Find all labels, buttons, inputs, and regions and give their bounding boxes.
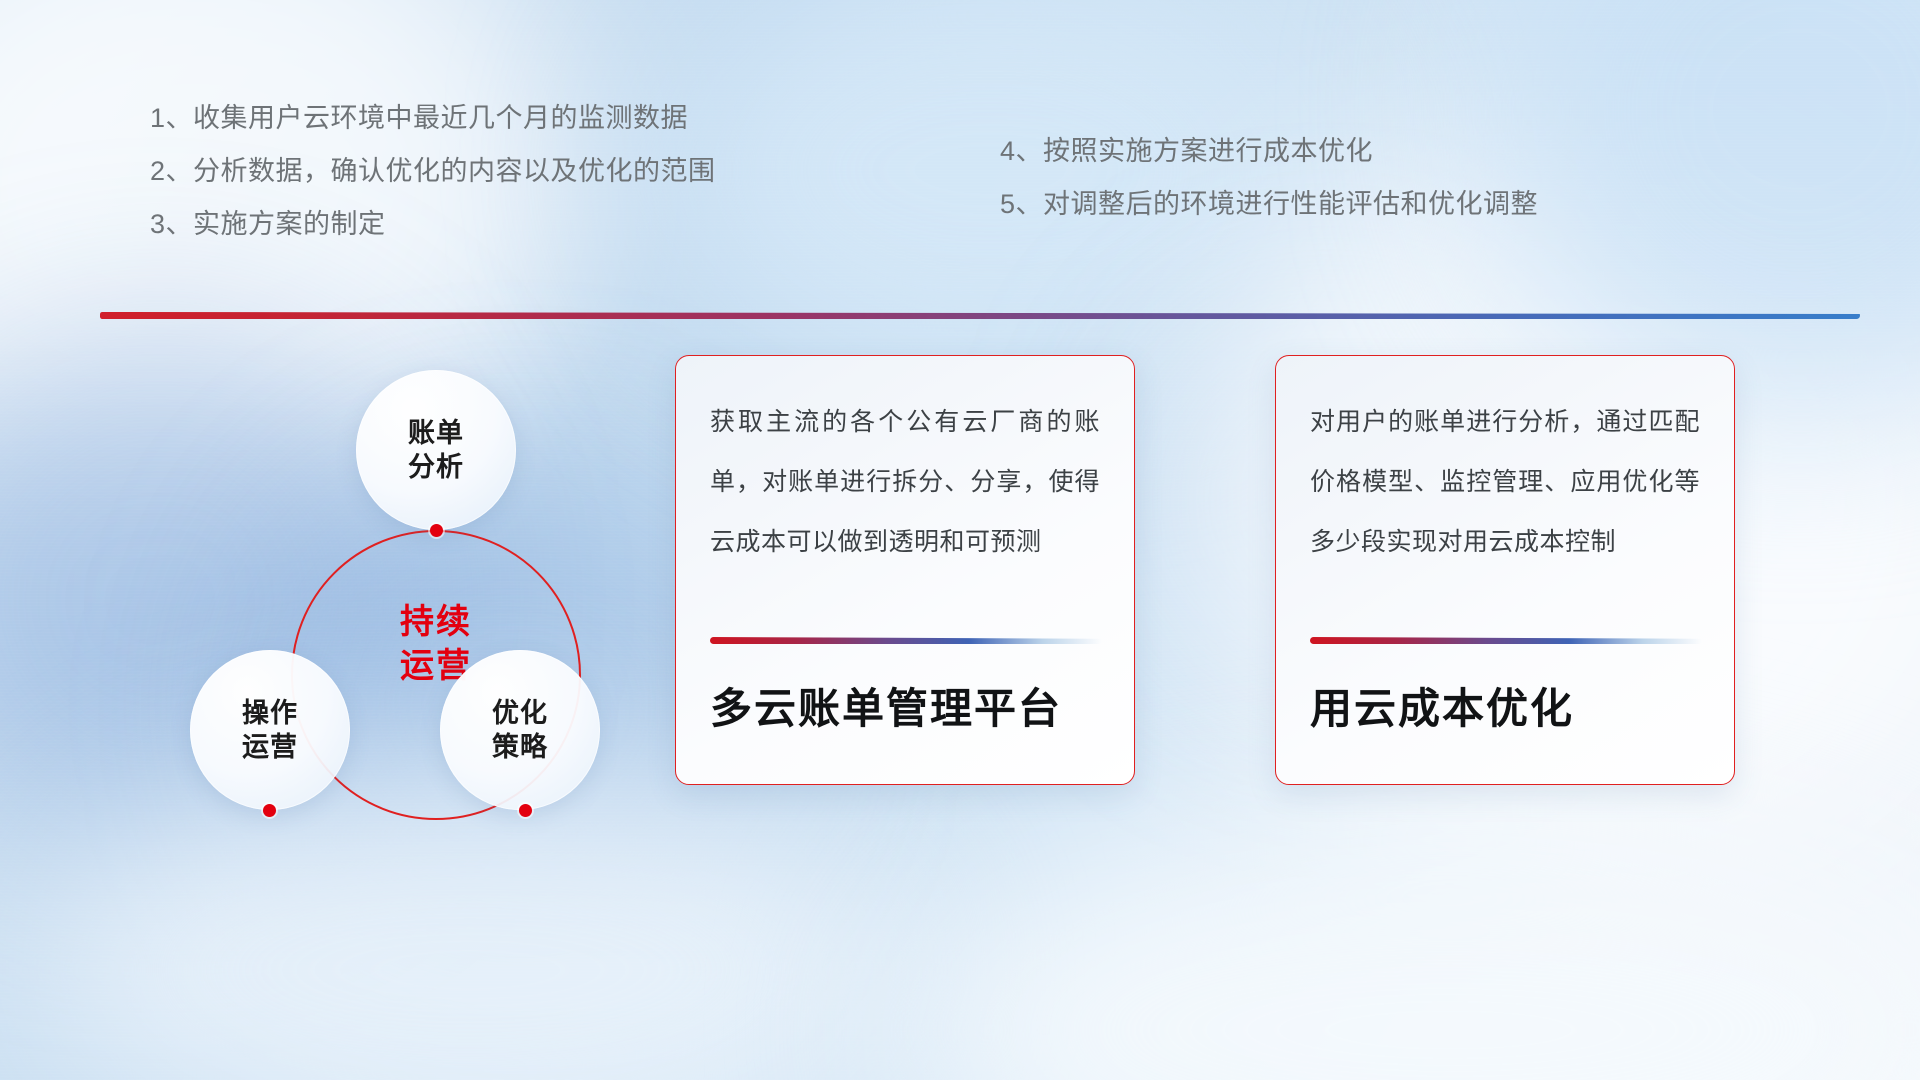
diagram-node-label: 优化 策略	[492, 696, 548, 764]
cycle-diagram: 持续 运营 账单 分析 操作 运营 优化 策略	[95, 345, 635, 915]
card-accent-rule	[710, 637, 1102, 644]
step-item: 3、实施方案的制定	[150, 198, 716, 251]
diagram-node-optimization-strategy[interactable]: 优化 策略	[440, 650, 600, 810]
node-label-line1: 操作	[242, 696, 298, 730]
feature-card-multicloud-billing[interactable]: 获取主流的各个公有云厂商的账单，对账单进行拆分、分享，使得云成本可以做到透明和可…	[675, 355, 1135, 785]
step-item: 2、分析数据，确认优化的内容以及优化的范围	[150, 145, 716, 198]
diagram-node-operations[interactable]: 操作 运营	[190, 650, 350, 810]
steps-column-right: 4、按照实施方案进行成本优化 5、对调整后的环境进行性能评估和优化调整	[1000, 125, 1538, 231]
diagram-node-label: 账单 分析	[408, 416, 464, 484]
diagram-node-bill-analysis[interactable]: 账单 分析	[356, 370, 516, 530]
card-title: 用云成本优化	[1310, 675, 1710, 736]
diagram-center-label-line1: 持续	[291, 600, 581, 644]
diagram-connector-dot	[263, 804, 276, 817]
node-label-line2: 策略	[492, 730, 548, 764]
steps-list: 1、收集用户云环境中最近几个月的监测数据 2、分析数据，确认优化的内容以及优化的…	[0, 92, 1920, 252]
step-item: 5、对调整后的环境进行性能评估和优化调整	[1000, 178, 1538, 231]
step-item: 1、收集用户云环境中最近几个月的监测数据	[150, 92, 716, 145]
diagram-connector-dot	[519, 804, 532, 817]
card-title: 多云账单管理平台	[710, 675, 1110, 736]
card-body-text: 获取主流的各个公有云厂商的账单，对账单进行拆分、分享，使得云成本可以做到透明和可…	[710, 392, 1100, 572]
diagram-connector-dot	[430, 524, 443, 537]
feature-card-cost-optimization[interactable]: 对用户的账单进行分析，通过匹配价格模型、监控管理、应用优化等多少段实现对用云成本…	[1275, 355, 1735, 785]
card-accent-rule	[1310, 637, 1702, 644]
node-label-line2: 分析	[408, 450, 464, 484]
step-item: 4、按照实施方案进行成本优化	[1000, 125, 1538, 178]
node-label-line2: 运营	[242, 730, 298, 764]
node-label-line1: 优化	[492, 696, 548, 730]
card-body-text: 对用户的账单进行分析，通过匹配价格模型、监控管理、应用优化等多少段实现对用云成本…	[1310, 392, 1700, 572]
node-label-line1: 账单	[408, 416, 464, 450]
diagram-node-label: 操作 运营	[242, 696, 298, 764]
steps-column-left: 1、收集用户云环境中最近几个月的监测数据 2、分析数据，确认优化的内容以及优化的…	[150, 92, 716, 251]
